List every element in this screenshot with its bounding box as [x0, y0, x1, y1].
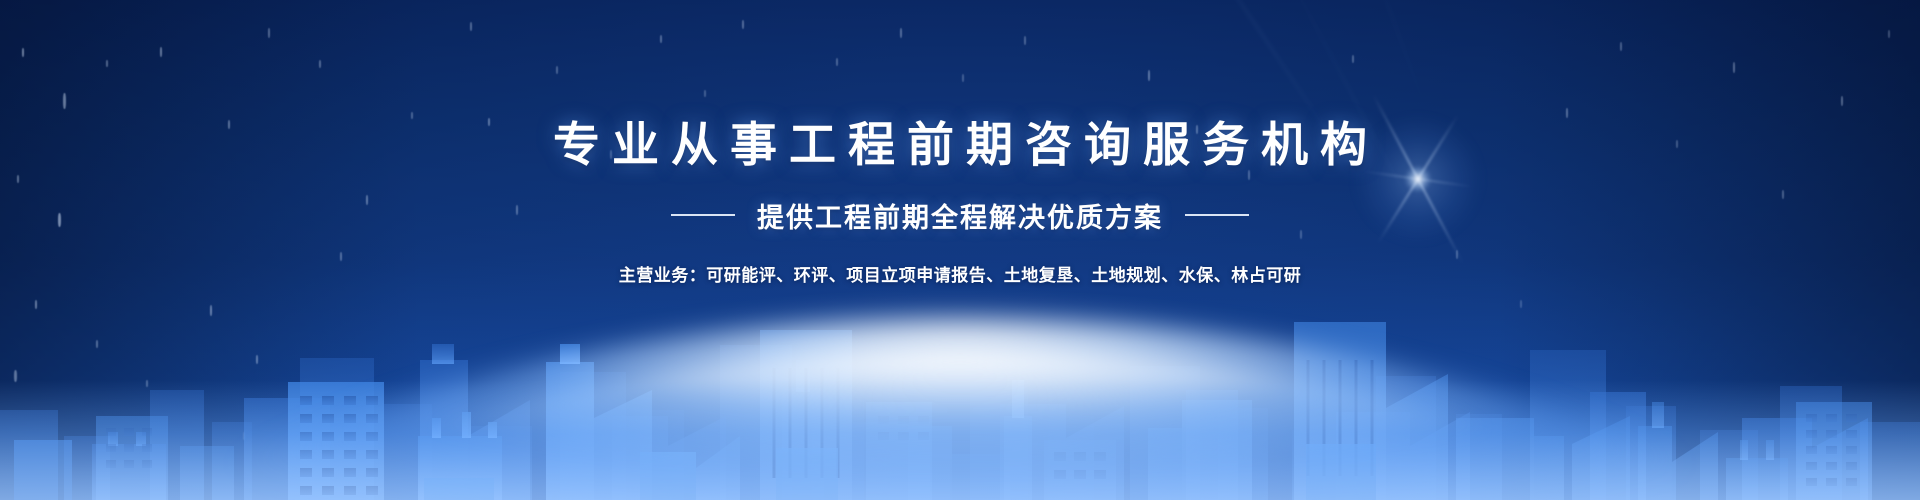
- rule-left-icon: [671, 214, 735, 216]
- subtitle-row: 提供工程前期全程解决优质方案: [0, 196, 1920, 235]
- subtitle: 提供工程前期全程解决优质方案: [757, 196, 1163, 235]
- banner-content: 专业从事工程前期咨询服务机构 提供工程前期全程解决优质方案 主营业务：可研能评、…: [0, 118, 1920, 286]
- services-tagline: 主营业务：可研能评、环评、项目立项申请报告、土地复垦、土地规划、水保、林占可研: [0, 261, 1920, 286]
- rule-right-icon: [1185, 214, 1249, 216]
- hero-banner: 专业从事工程前期咨询服务机构 提供工程前期全程解决优质方案 主营业务：可研能评、…: [0, 0, 1920, 500]
- page-title: 专业从事工程前期咨询服务机构: [0, 118, 1920, 173]
